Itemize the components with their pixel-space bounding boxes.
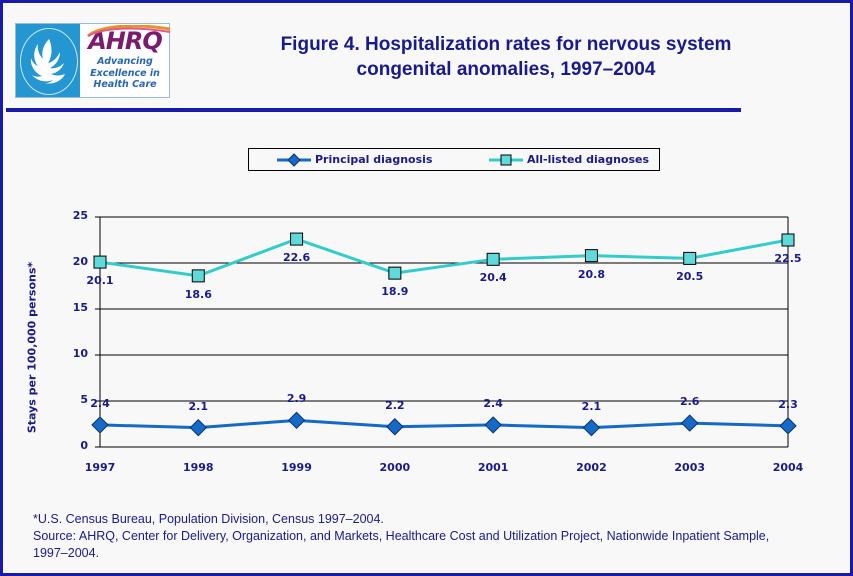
x-tick-label: 2001 (463, 461, 523, 474)
legend-marker-diamond-icon (277, 153, 311, 167)
data-point-marker[interactable] (92, 417, 108, 433)
tagline-line-1: Advancing (84, 56, 166, 68)
x-tick-label: 2004 (758, 461, 818, 474)
data-point-marker[interactable] (94, 256, 106, 268)
data-point-marker[interactable] (387, 419, 403, 435)
data-point-label: 18.9 (365, 285, 425, 298)
figure-container: AHRQ Advancing Excellence in Health Care… (0, 0, 853, 576)
data-point-marker[interactable] (782, 234, 794, 246)
data-point-label: 2.4 (463, 397, 523, 410)
footnotes: *U.S. Census Bureau, Population Division… (33, 511, 833, 562)
tagline-line-2: Excellence in (84, 68, 166, 80)
data-point-marker[interactable] (583, 420, 599, 436)
data-point-marker[interactable] (485, 417, 501, 433)
y-tick-label: 20 (54, 255, 88, 268)
footnote-line-2: Source: AHRQ, Center for Delivery, Organ… (33, 528, 833, 545)
x-tick-label: 1998 (168, 461, 228, 474)
data-point-marker[interactable] (192, 270, 204, 282)
data-point-marker[interactable] (487, 253, 499, 265)
data-point-marker[interactable] (190, 420, 206, 436)
data-point-label: 18.6 (168, 288, 228, 301)
x-tick-label: 2002 (561, 461, 621, 474)
data-point-label: 2.3 (758, 398, 818, 411)
data-point-marker[interactable] (682, 415, 698, 431)
ahrq-logo: AHRQ Advancing Excellence in Health Care (15, 23, 170, 98)
x-tick-label: 1997 (70, 461, 130, 474)
header-divider (6, 108, 741, 112)
ahrq-text-block: AHRQ Advancing Excellence in Health Care (80, 24, 169, 97)
data-point-label: 2.1 (561, 400, 621, 413)
data-point-marker[interactable] (684, 252, 696, 264)
data-point-label: 2.4 (70, 397, 130, 410)
title-line-1: Figure 4. Hospitalization rates for nerv… (186, 32, 826, 57)
y-axis-title: Stays per 100,000 persons* (26, 253, 39, 443)
hhs-eagle-icon (29, 37, 67, 85)
data-point-label: 20.1 (70, 274, 130, 287)
data-point-label: 2.9 (267, 392, 327, 405)
data-point-label: 2.6 (660, 395, 720, 408)
data-point-marker[interactable] (289, 412, 305, 428)
data-point-label: 20.8 (561, 268, 621, 281)
y-tick-label: 10 (54, 347, 88, 360)
y-tick-label: 15 (54, 301, 88, 314)
legend-item-all-listed-diagnoses[interactable]: All-listed diagnoses (489, 153, 649, 167)
x-tick-label: 2000 (365, 461, 425, 474)
y-tick-label: 0 (54, 439, 88, 452)
line-chart (3, 193, 853, 493)
data-point-marker[interactable] (585, 250, 597, 262)
figure-header: AHRQ Advancing Excellence in Health Care… (6, 6, 853, 106)
data-point-marker[interactable] (389, 267, 401, 279)
data-point-marker[interactable] (780, 418, 796, 434)
footnote-line-1: *U.S. Census Bureau, Population Division… (33, 511, 833, 528)
data-point-marker[interactable] (291, 233, 303, 245)
y-tick-label: 25 (54, 209, 88, 222)
legend-item-principal-diagnosis[interactable]: Principal diagnosis (277, 153, 432, 167)
data-point-label: 2.1 (168, 400, 228, 413)
title-line-2: congenital anomalies, 1997–2004 (186, 57, 826, 82)
page-title: Figure 4. Hospitalization rates for nerv… (186, 32, 826, 82)
ahrq-swoosh-icon (86, 25, 172, 37)
tagline-line-3: Health Care (84, 79, 166, 91)
data-point-label: 20.4 (463, 271, 523, 284)
chart-plot-area: Stays per 100,000 persons* 0510152025199… (3, 193, 853, 493)
data-point-label: 2.2 (365, 399, 425, 412)
data-point-label: 22.5 (758, 252, 818, 265)
chart-legend: Principal diagnosis All-listed diagnoses (248, 148, 660, 171)
x-tick-label: 1999 (267, 461, 327, 474)
legend-label-principal-diagnosis: Principal diagnosis (315, 153, 432, 166)
data-point-label: 20.5 (660, 270, 720, 283)
ahrq-tagline: Advancing Excellence in Health Care (84, 56, 166, 91)
x-tick-label: 2003 (660, 461, 720, 474)
legend-marker-square-icon (489, 153, 523, 167)
footnote-line-3: 1997–2004. (33, 545, 833, 562)
ahrq-wordmark: AHRQ (84, 29, 166, 53)
data-point-label: 22.6 (267, 251, 327, 264)
legend-label-all-listed-diagnoses: All-listed diagnoses (527, 153, 649, 166)
hhs-seal-icon (16, 24, 80, 97)
